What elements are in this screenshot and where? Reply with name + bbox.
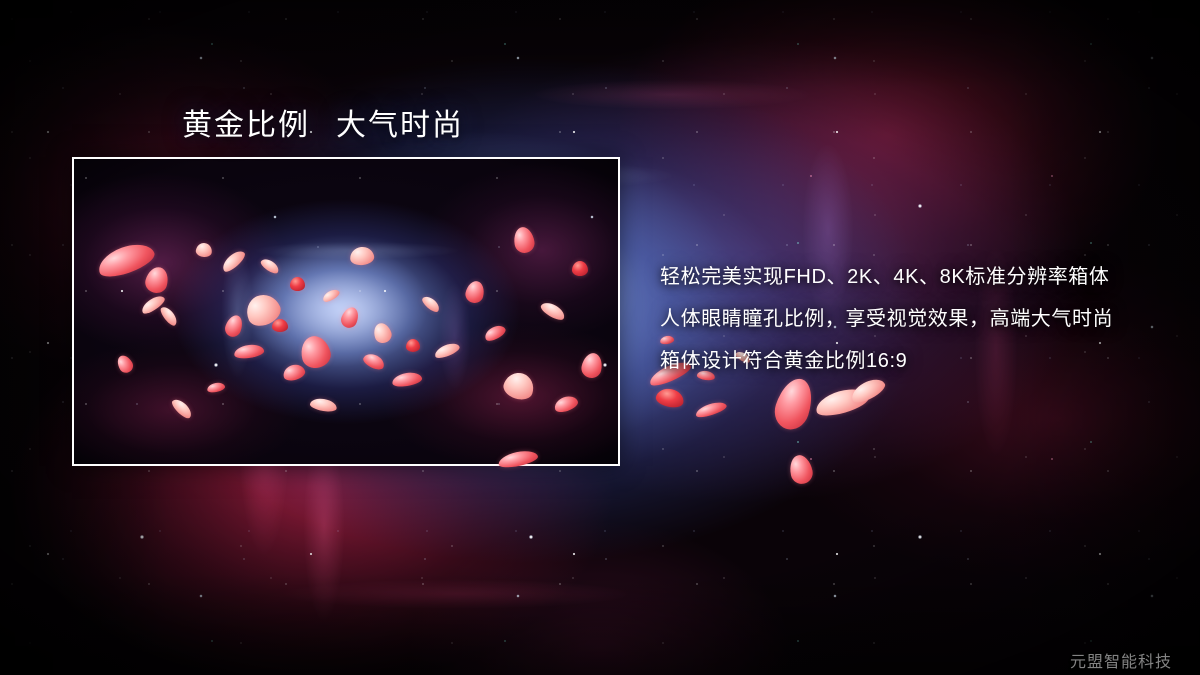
petal xyxy=(272,319,288,332)
body-text-block: 轻松完美实现FHD、2K、4K、8K标准分辨率箱体 人体眼睛瞳孔比例，享受视觉效… xyxy=(660,256,1180,382)
watermark: 元盟智能科技 xyxy=(1070,648,1172,672)
framed-image-content xyxy=(74,159,618,464)
slide-title: 黄金比例大气时尚 xyxy=(182,100,464,144)
petal xyxy=(770,374,818,434)
body-text-line: 箱体设计符合黄金比例16:9 xyxy=(660,340,1180,382)
petal xyxy=(406,339,420,352)
petal xyxy=(572,261,588,276)
petal xyxy=(654,386,685,409)
petal xyxy=(694,399,728,419)
body-text-line: 人体眼睛瞳孔比例，享受视觉效果，高端大气时尚 xyxy=(660,298,1180,340)
petal xyxy=(290,277,305,291)
slide-title-part1: 黄金比例 xyxy=(182,109,310,142)
slide-title-part2: 大气时尚 xyxy=(336,109,464,142)
presentation-slide: 黄金比例大气时尚 轻松完美实现FHD、2K、4K、8K标准分辨率箱体 人体眼睛瞳… xyxy=(0,0,1200,675)
framed-image xyxy=(72,157,620,466)
petal xyxy=(787,453,815,486)
body-text-line: 轻松完美实现FHD、2K、4K、8K标准分辨率箱体 xyxy=(660,256,1180,298)
